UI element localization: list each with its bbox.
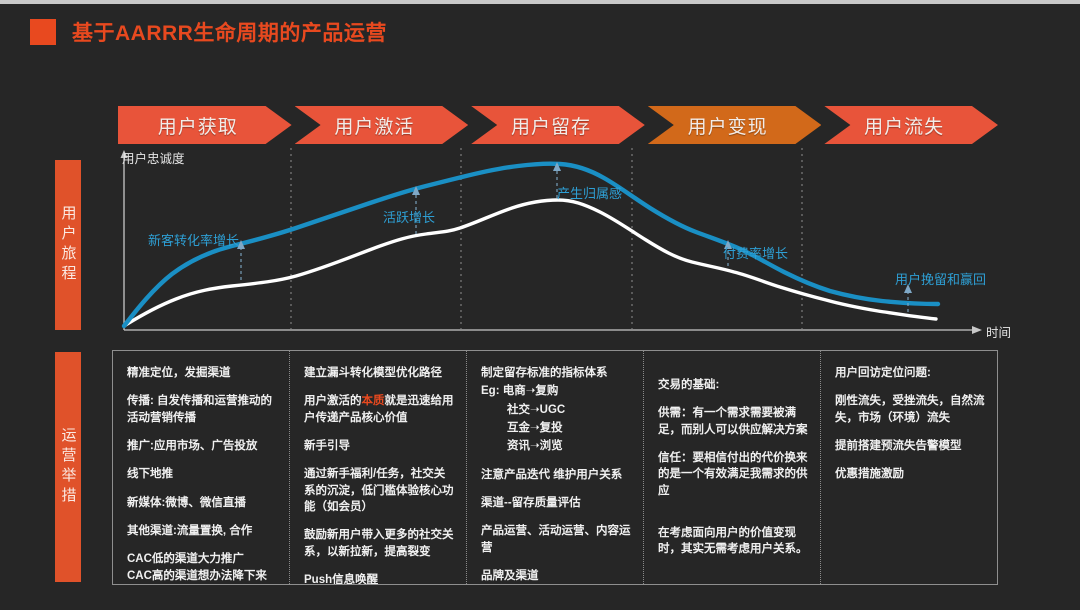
optimized-loyalty-curve <box>124 164 938 326</box>
measure-item: Eg: 电商➝复购 <box>481 383 631 399</box>
measure-item: 资讯➝浏览 <box>481 438 631 454</box>
chart-annotation-revenue: 付费率增长 <box>723 243 788 262</box>
stage-label: 用户获取 <box>158 112 238 139</box>
stage-arrow-retention[interactable]: 用户留存 <box>471 106 645 144</box>
measure-item: 新媒体:微博、微信直播 <box>127 495 277 511</box>
chart-annotation-activation: 活跃增长 <box>383 207 435 226</box>
measure-item: 新手引导 <box>304 438 454 454</box>
stage-arrow-activation[interactable]: 用户激活 <box>295 106 469 144</box>
side-tab-label: 运营举措 <box>61 427 76 507</box>
x-axis-label: 时间 <box>986 322 1011 341</box>
measure-item: 其他渠道:流量置换, 合作 <box>127 523 277 539</box>
measure-highlight: 本质 <box>362 395 385 407</box>
stage-label: 用户留存 <box>511 112 591 139</box>
measure-item: 渠道--留存质量评估 <box>481 495 631 511</box>
chart-svg <box>110 148 1000 340</box>
stage-label: 用户变现 <box>688 112 768 139</box>
measure-item: 刚性流失，受挫流失，自然流失，市场（环境）流失 <box>835 393 985 426</box>
stage-label: 用户流失 <box>864 112 944 139</box>
measures-column-retention: 制定留存标准的指标体系 Eg: 电商➝复购 社交➝UGC 互金➝复投 资讯➝浏览… <box>467 351 644 584</box>
measure-item: 推广:应用市场、广告投放 <box>127 438 277 454</box>
measure-item: 建立漏斗转化模型优化路径 <box>304 365 454 381</box>
measure-item: 提前搭建预流失告警模型 <box>835 438 985 454</box>
measure-item-highlighted: 用户激活的本质就是迅速给用户传递产品核心价值 <box>304 393 454 426</box>
measures-column-acquisition: 精准定位，发掘渠道 传播: 自发传播和运营推动的活动营销传播 推广:应用市场、广… <box>113 351 290 584</box>
measure-item: Push信息唤醒 <box>304 572 454 584</box>
measure-item: 供需：有一个需求需要被满足，而别人可以供应解决方案 <box>658 405 808 438</box>
measures-column-revenue: 交易的基础: 供需：有一个需求需要被满足，而别人可以供应解决方案 信任：要相信付… <box>644 351 821 584</box>
measure-text-pre: 用户激活的 <box>304 395 362 407</box>
x-axis-arrowhead <box>972 326 982 334</box>
annotation-connectors <box>241 148 1000 280</box>
chart-annotation-churn: 用户挽留和赢回 <box>895 269 986 288</box>
measures-column-churn: 用户回访定位问题: 刚性流失，受挫流失，自然流失，市场（环境）流失 提前搭建预流… <box>821 351 997 584</box>
measure-item: 在考虑面向用户的价值变现时，其实无需考虑用户关系。 <box>658 525 808 558</box>
measure-item: 产品运营、活动运营、内容运营 <box>481 523 631 556</box>
side-tab-operating-measures[interactable]: 运营举措 <box>55 352 81 582</box>
measure-item: 用户回访定位问题: <box>835 365 985 381</box>
chart-annotation-retention: 产生归属感 <box>557 183 622 202</box>
stage-arrow-revenue[interactable]: 用户变现 <box>648 106 822 144</box>
slide-canvas: 基于AARRR生命周期的产品运营 用户获取 用户激活 用户留存 用户变现 用户流… <box>0 0 1080 610</box>
measure-item: 优惠措施激励 <box>835 466 985 482</box>
operating-measures-panel: 精准定位，发掘渠道 传播: 自发传播和运营推动的活动营销传播 推广:应用市场、广… <box>112 350 998 585</box>
user-loyalty-chart <box>110 148 1000 340</box>
top-accent-strip <box>0 0 1080 4</box>
measure-item: CAC低的渠道大力推广 CAC高的渠道想办法降下来 <box>127 551 277 584</box>
side-tab-user-journey[interactable]: 用户旅程 <box>55 160 81 330</box>
stage-arrow-acquisition[interactable]: 用户获取 <box>118 106 292 144</box>
page-title: 基于AARRR生命周期的产品运营 <box>72 17 387 47</box>
measure-item: 互金➝复投 <box>481 420 631 436</box>
measure-item: 制定留存标准的指标体系 <box>481 365 631 381</box>
measure-item: 精准定位，发掘渠道 <box>127 365 277 381</box>
chart-annotation-acquisition: 新客转化率增长 <box>148 230 239 249</box>
measures-column-activation: 建立漏斗转化模型优化路径 用户激活的本质就是迅速给用户传递产品核心价值 新手引导… <box>290 351 467 584</box>
stage-divider-lines <box>291 148 802 330</box>
measure-item: 社交➝UGC <box>481 402 631 418</box>
measure-item: 交易的基础: <box>658 377 808 393</box>
measure-item: 传播: 自发传播和运营推动的活动营销传播 <box>127 393 277 426</box>
measure-item: 线下地推 <box>127 466 277 482</box>
stage-arrow-band: 用户获取 用户激活 用户留存 用户变现 用户流失 <box>118 106 998 144</box>
measure-item: 品牌及渠道 <box>481 568 631 584</box>
annotation-arrowheads <box>237 162 912 293</box>
page-header: 基于AARRR生命周期的产品运营 <box>30 17 387 47</box>
stage-arrow-churn[interactable]: 用户流失 <box>824 106 998 144</box>
measure-item: 注意产品迭代 维护用户关系 <box>481 467 631 483</box>
baseline-loyalty-curve <box>124 200 936 326</box>
square-marker-icon <box>30 19 56 45</box>
side-tab-label: 用户旅程 <box>61 205 76 285</box>
measure-item: 信任：要相信付出的代价换来的是一个有效满足我需求的供应 <box>658 450 808 499</box>
y-axis-label: 用户忠诚度 <box>122 148 185 167</box>
stage-label: 用户激活 <box>334 112 414 139</box>
measure-item: 鼓励新用户带入更多的社交关系，以新拉新，提高裂变 <box>304 527 454 560</box>
measure-item: 通过新手福利/任务，社交关系的沉淀，低门槛体验核心功能（如会员） <box>304 466 454 515</box>
